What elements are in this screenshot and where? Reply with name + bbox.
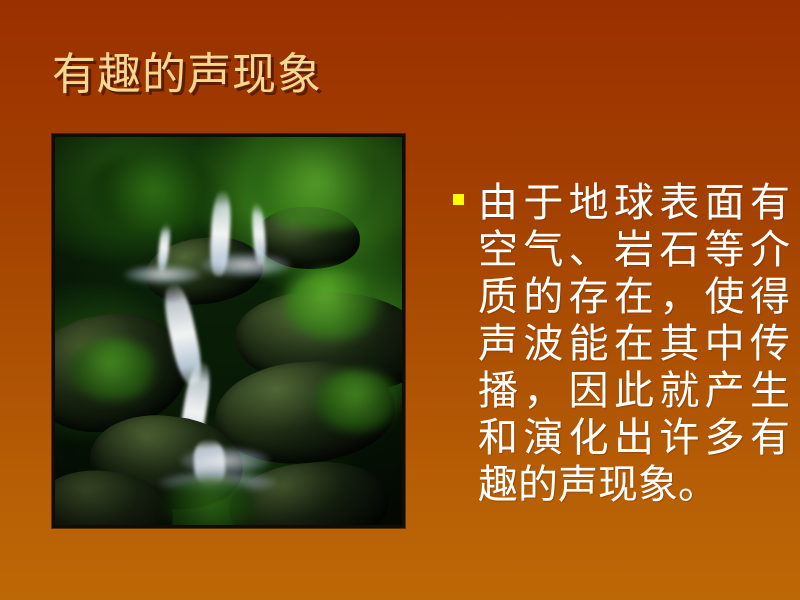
presentation-slide: 有趣的声现象	[0, 0, 800, 600]
body-paragraph: 由于地球表面有空气、岩石等介质的存在，使得声波能在其中传播，因此就产生和演化出许…	[450, 180, 790, 509]
content-placeholder[interactable]: 由于地球表面有空气、岩石等介质的存在，使得声波能在其中传播，因此就产生和演化出许…	[450, 180, 790, 509]
photo-vignette	[55, 137, 402, 525]
square-bullet-icon	[453, 194, 464, 205]
slide-title: 有趣的声现象	[52, 48, 322, 102]
bullet-list-item: 由于地球表面有空气、岩石等介质的存在，使得声波能在其中传播，因此就产生和演化出许…	[450, 180, 790, 509]
waterfall-photo	[55, 137, 402, 525]
picture-frame[interactable]	[52, 134, 405, 528]
